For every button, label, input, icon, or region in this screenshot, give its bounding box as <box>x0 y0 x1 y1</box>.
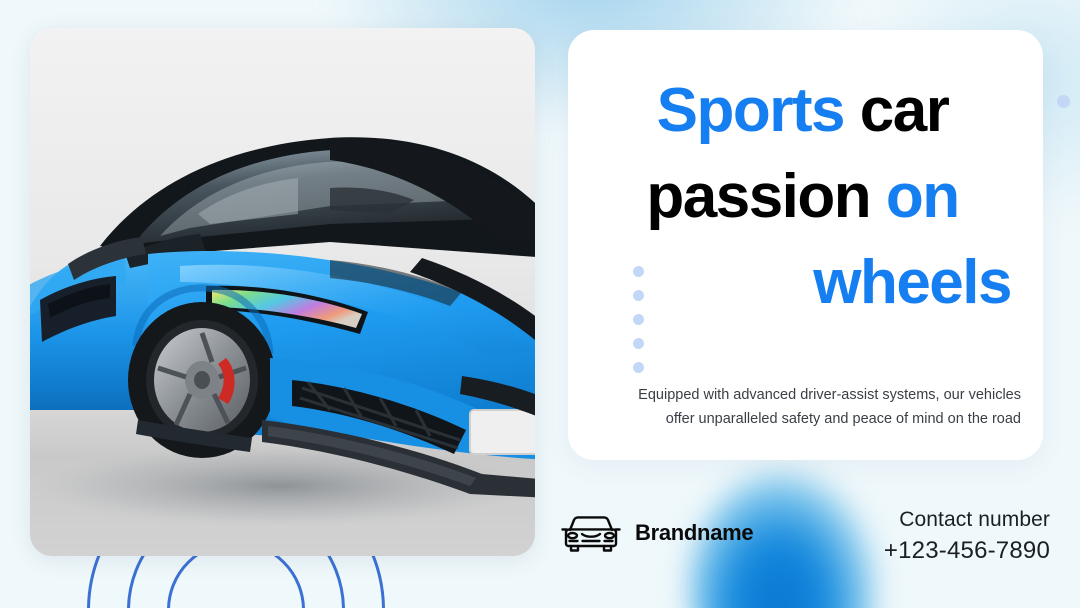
brand-logo[interactable]: Brandname <box>560 512 753 554</box>
hero-photo-canvas <box>30 28 535 556</box>
headline-line-2: passion on <box>592 154 1013 240</box>
decorative-dot <box>633 362 644 373</box>
decorative-dot <box>633 314 644 325</box>
headline-word-passion: passion <box>646 162 870 231</box>
dot-column-decoration <box>633 266 644 373</box>
page-title: Sports car passion on wheels <box>592 68 1013 326</box>
decorative-dot <box>633 266 644 277</box>
headline-word-car: car <box>860 76 949 145</box>
sports-car-illustration <box>30 28 535 556</box>
content-card: Sports car passion on wheels Equipped wi… <box>568 30 1043 460</box>
body-copy: Equipped with advanced driver-assist sys… <box>614 383 1021 431</box>
decorative-dot <box>633 290 644 301</box>
poster-canvas: Sports car passion on wheels Equipped wi… <box>0 0 1080 608</box>
headline-line-1: Sports car <box>592 68 1013 154</box>
headline-accent-sports: Sports <box>657 76 844 145</box>
decorative-dot-right-edge <box>1057 95 1070 108</box>
contact-block: Contact number +123-456-7890 <box>884 505 1050 567</box>
brand-name-label: Brandname <box>635 520 753 546</box>
hero-image <box>30 28 535 556</box>
contact-label: Contact number <box>884 505 1050 535</box>
car-front-icon <box>560 512 622 554</box>
headline-line-3: wheels <box>592 240 1013 326</box>
contact-number[interactable]: +123-456-7890 <box>884 535 1050 567</box>
decorative-dot <box>633 338 644 349</box>
headline-accent-on: on <box>886 162 959 231</box>
headline-accent-wheels: wheels <box>813 248 1011 317</box>
